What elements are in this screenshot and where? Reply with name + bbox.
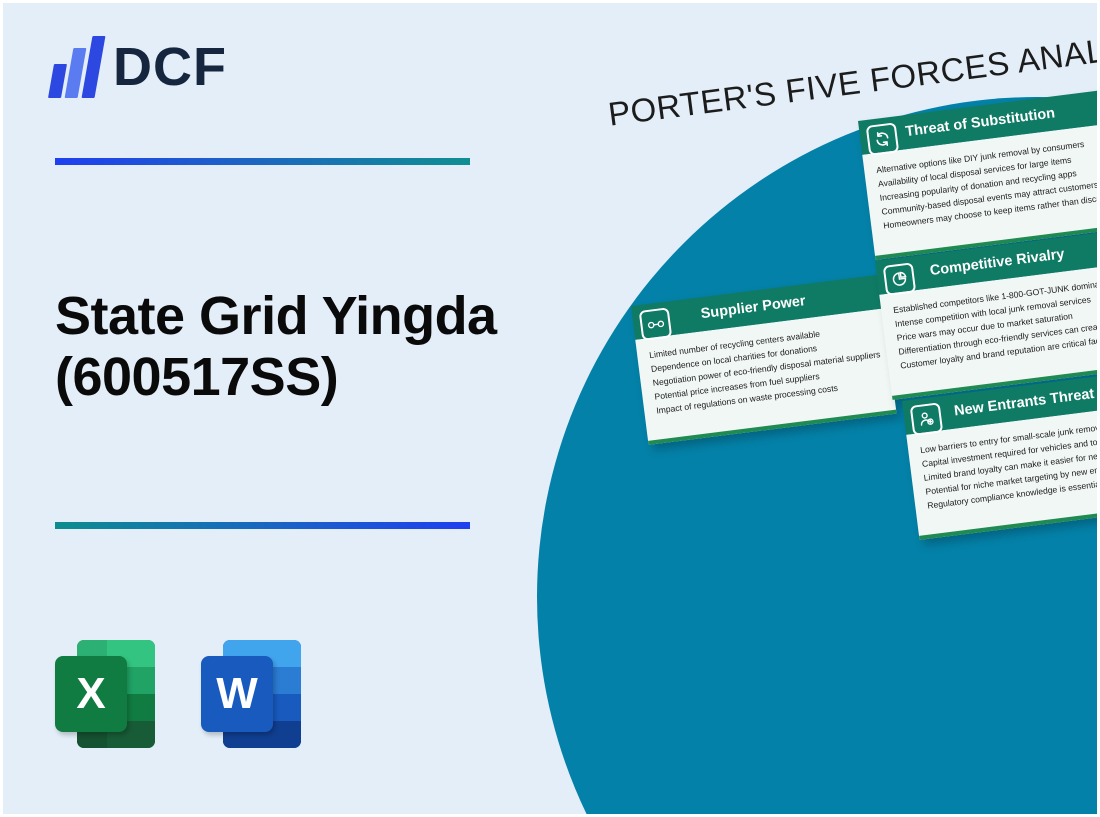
page-title-line1: State Grid Yingda	[55, 286, 525, 347]
word-letter: W	[201, 656, 273, 732]
force-card-substitution: Threat of Substitution Alternative optio…	[858, 90, 1100, 260]
brand-name: DCF	[113, 40, 227, 94]
excel-file-icon[interactable]: X	[55, 638, 155, 750]
divider-bottom	[55, 522, 470, 529]
divider-top	[55, 158, 470, 165]
brand-logo: DCF	[51, 36, 227, 98]
dcf-bars-logo	[51, 36, 103, 98]
page-title: State Grid Yingda (600517SS)	[55, 286, 525, 408]
logo-bar-3	[82, 36, 106, 98]
excel-letter: X	[55, 656, 127, 732]
page-title-line2: (600517SS)	[55, 347, 525, 408]
word-file-icon[interactable]: W	[201, 638, 301, 750]
download-icons: X W	[55, 638, 301, 750]
logo-bar-1	[48, 64, 67, 98]
infographic-canvas: DCF State Grid Yingda (600517SS) X W POR…	[0, 0, 1100, 817]
